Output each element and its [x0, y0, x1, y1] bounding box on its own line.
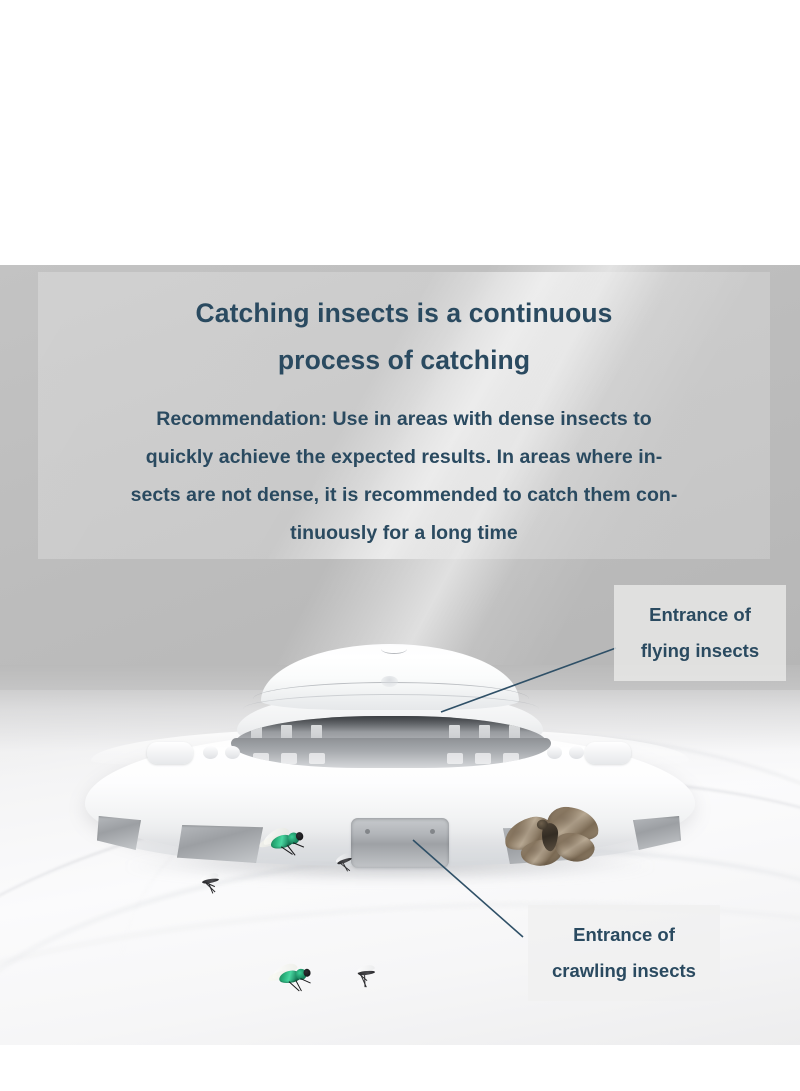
callout-flying-insects: Entrance of flying insects	[614, 585, 786, 681]
grid-tooth	[253, 753, 269, 764]
flange-lobe	[147, 742, 193, 764]
mosquito-insect	[195, 871, 227, 890]
headline-line: process of catching	[90, 337, 718, 384]
panel-notch	[365, 829, 370, 834]
flange-lobe-dot	[225, 746, 240, 759]
product-infographic-page: Catching insects is a continuous process…	[0, 0, 800, 1091]
crawling-vent-slot	[633, 816, 681, 850]
flange-lobe	[585, 742, 631, 764]
grid-tooth	[281, 753, 297, 764]
fly-leg	[293, 842, 304, 848]
crawling-vent-slot	[177, 825, 263, 863]
grid-tooth	[309, 753, 325, 764]
moth-insect	[496, 799, 609, 880]
crawling-insect-entrance-panel	[351, 818, 449, 868]
callout-line: flying insects	[626, 633, 774, 669]
flange-lobe-dot	[569, 746, 584, 759]
flange-lobe-dot	[547, 746, 562, 759]
grid-tooth	[503, 753, 519, 764]
headline: Catching insects is a continuous process…	[90, 290, 718, 384]
crawling-vent-slot	[97, 816, 141, 850]
panel-notch	[430, 829, 435, 834]
callout-crawling-insects: Entrance of crawling insects	[528, 905, 720, 1001]
callout-line: crawling insects	[540, 953, 708, 989]
flange-lobe-dot	[203, 746, 218, 759]
fly-leg	[300, 978, 311, 984]
body-copy: Recommendation: Use in areas with dense …	[90, 400, 718, 552]
body-copy-line: tinuously for a long time	[90, 514, 718, 552]
grid-tooth	[475, 753, 491, 764]
callout-line: Entrance of	[540, 917, 708, 953]
fly-head	[303, 968, 311, 977]
product-photo: Catching insects is a continuous process…	[0, 265, 800, 1045]
body-copy-line: Recommendation: Use in areas with dense …	[90, 400, 718, 438]
headline-line: Catching insects is a continuous	[90, 290, 718, 337]
grid-tooth	[447, 753, 463, 764]
body-copy-line: sects are not dense, it is recommended t…	[90, 476, 718, 514]
body-copy-line: quickly achieve the expected results. In…	[90, 438, 718, 476]
dome-indicator-dimple	[381, 676, 398, 687]
mosquito-insect	[331, 853, 359, 869]
callout-line: Entrance of	[626, 597, 774, 633]
copy-panel: Catching insects is a continuous process…	[38, 272, 770, 559]
